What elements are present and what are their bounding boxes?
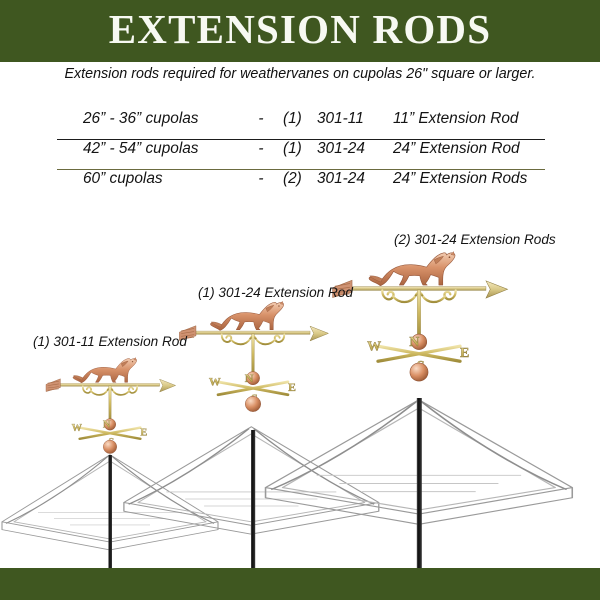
- page-title: EXTENSION RODS: [0, 5, 600, 53]
- part-number: 301-24: [317, 140, 393, 158]
- cupola-size: 60” cupolas: [57, 170, 239, 188]
- rod-description: 11” Extension Rod: [393, 110, 545, 128]
- part-number: 301-11: [317, 110, 393, 128]
- weathervane-medium: [179, 301, 328, 411]
- weathervane-large: [333, 252, 508, 382]
- header-band: EXTENSION RODS: [0, 0, 600, 62]
- footer-band: [0, 568, 600, 600]
- rod-description: 24” Extension Rod: [393, 140, 545, 158]
- part-number: 301-24: [317, 170, 393, 188]
- separator-dash: -: [239, 140, 283, 158]
- quantity: (2): [283, 170, 317, 188]
- mast-rod-medium: [251, 430, 255, 570]
- vane-label-301-24-two: (2) 301-24 Extension Rods: [394, 232, 556, 247]
- extension-rod-spec-table: 26” - 36” cupolas - (1) 301-11 11” Exten…: [57, 110, 545, 199]
- quantity: (1): [283, 140, 317, 158]
- separator-dash: -: [239, 170, 283, 188]
- extension-rods-infographic: W N E S: [0, 0, 600, 600]
- cupola-size: 26” - 36” cupolas: [57, 110, 239, 128]
- subtitle-text: Extension rods required for weathervanes…: [0, 66, 600, 82]
- weathervane-scene: W N E S: [0, 0, 600, 600]
- cupola-size: 42” - 54” cupolas: [57, 140, 239, 158]
- table-row: 26” - 36” cupolas - (1) 301-11 11” Exten…: [57, 110, 545, 140]
- table-row: 60” cupolas - (2) 301-24 24” Extension R…: [57, 170, 545, 199]
- rod-description: 24” Extension Rods: [393, 170, 545, 188]
- weathervane-small: [46, 358, 176, 454]
- mast-rod-small: [108, 455, 112, 570]
- mast-rod-large: [417, 398, 422, 570]
- vane-label-301-11: (1) 301-11 Extension Rod: [33, 334, 187, 349]
- vane-label-301-24-one: (1) 301-24 Extension Rod: [198, 285, 353, 300]
- quantity: (1): [283, 110, 317, 128]
- separator-dash: -: [239, 110, 283, 128]
- table-row: 42” - 54” cupolas - (1) 301-24 24” Exten…: [57, 140, 545, 170]
